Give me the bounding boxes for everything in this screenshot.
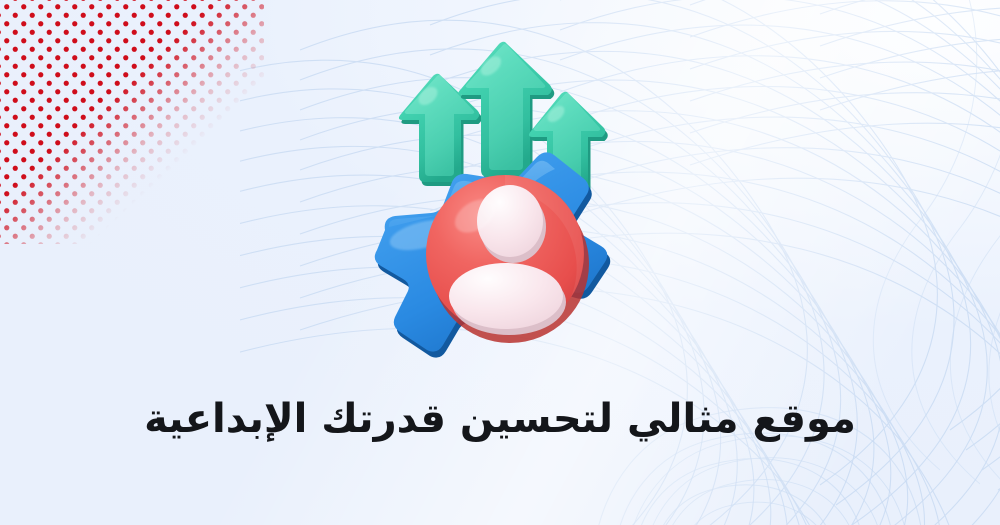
background-gradient: [0, 0, 1000, 525]
page-title: موقع مثالي لتحسين قدرتك الإبداعية: [0, 392, 1000, 446]
banner-root: موقع مثالي لتحسين قدرتك الإبداعية: [0, 0, 1000, 525]
